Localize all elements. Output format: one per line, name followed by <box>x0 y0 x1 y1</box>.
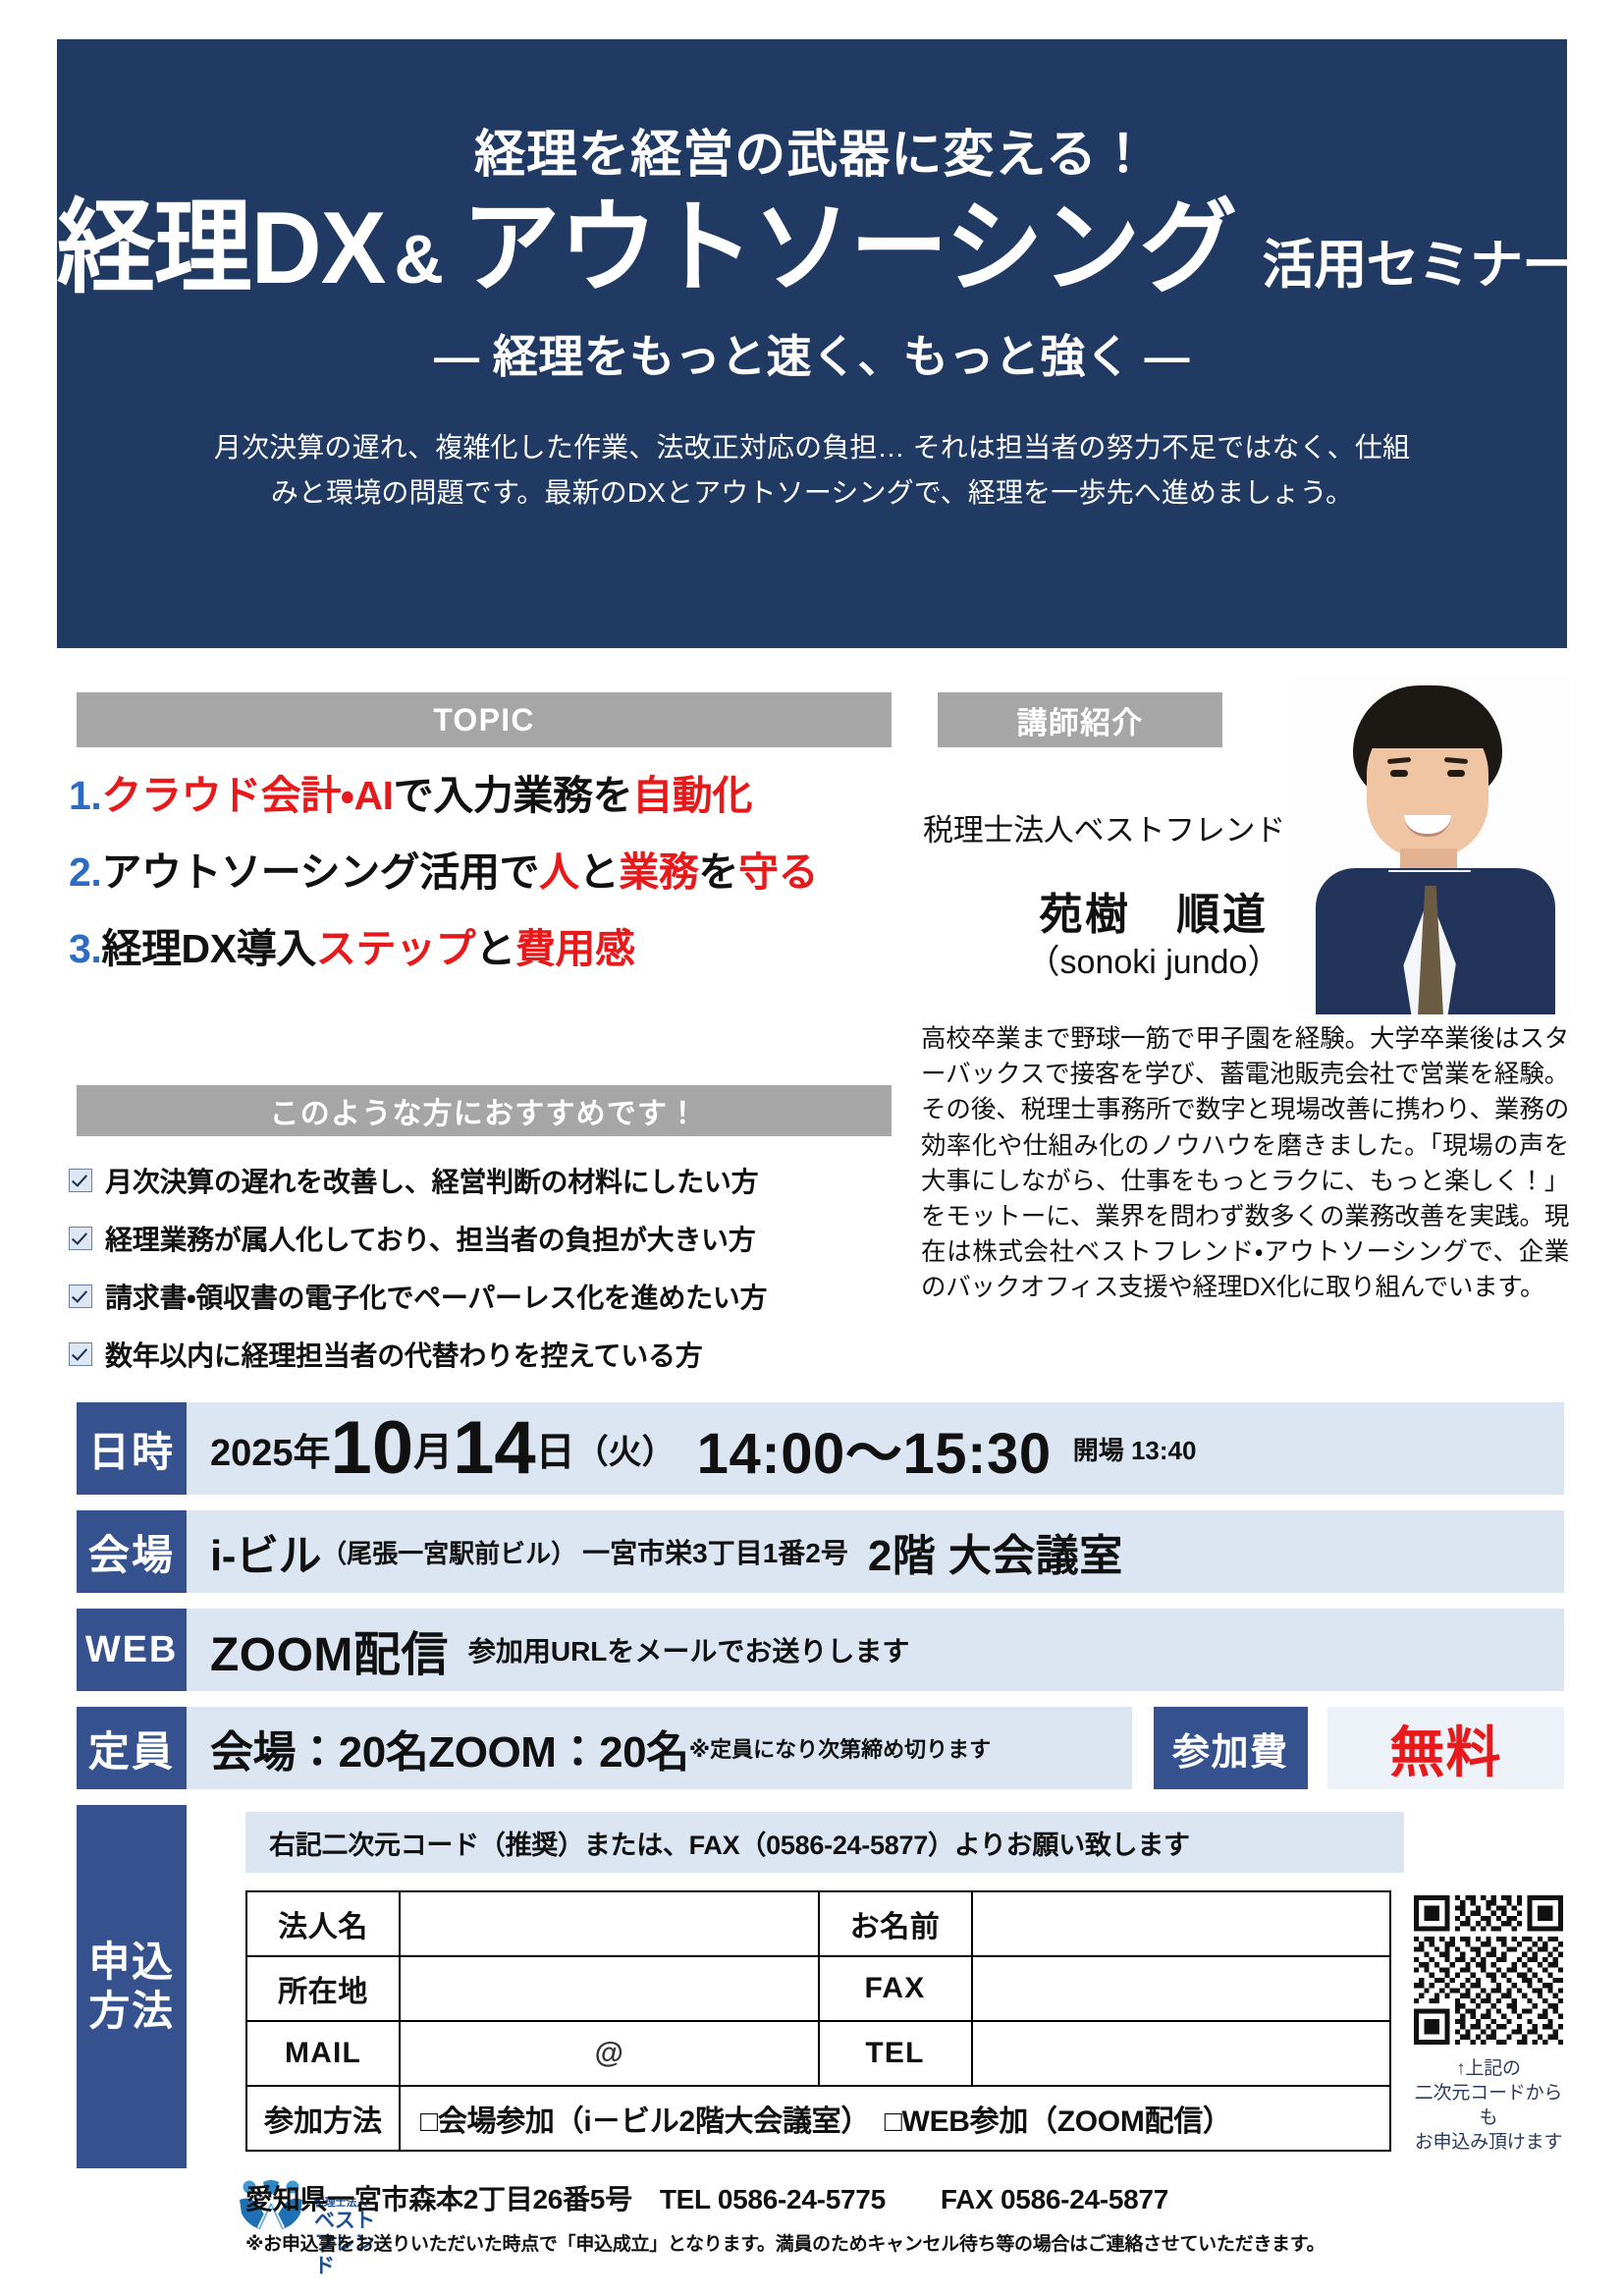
hero-title-sub: 活用セミナー <box>1262 239 1574 292</box>
venue-name: i-ビル <box>210 1520 321 1583</box>
detail-label-date: 日時 <box>77 1402 187 1495</box>
qr-caption: ↑上記の 二次元コードからも お申込み頂けます <box>1414 2056 1563 2155</box>
date-year: 2025年 <box>210 1422 331 1476</box>
topic-item-text: 費用感 <box>515 926 635 971</box>
recommend-item-label: 月次決算の遅れを改善し、経営判断の材料にしたい方 <box>105 1161 758 1200</box>
topic-item-number: 3. <box>69 926 101 971</box>
footer-contact: 愛知県一宮市森本2丁目26番5号TEL 0586-24-5775FAX 0586… <box>245 2178 1571 2217</box>
detail-value-venue: i-ビル（尾張一宮駅前ビル）一宮市栄3丁目1番2号2階 大会議室 <box>187 1510 1564 1593</box>
hero-lead: 月次決算の遅れ、複雑化した作業、法改正対応の負担… それは担当者の努力不足ではな… <box>102 425 1522 515</box>
detail-label-web: WEB <box>77 1609 187 1691</box>
form-field-label: 参加方法 <box>246 2086 400 2151</box>
topic-item-text: ステップ <box>316 926 475 971</box>
form-field-input[interactable] <box>972 1956 1391 2021</box>
topic-item-number: 1. <box>69 773 101 818</box>
hero-tagline: ― 経理をもっと速く、もっと強く ― <box>102 321 1522 386</box>
checkbox-checked-icon <box>69 1227 92 1250</box>
date-month: 10 <box>331 1411 414 1486</box>
instructor-photo <box>1294 676 1571 1014</box>
recommend-item-label: 請求書・領収書の電子化でペーパーレス化を進めたい方 <box>105 1277 767 1316</box>
hero-title: 経理DX&アウトソーシング活用セミナー <box>102 197 1522 300</box>
application-form-table: 法人名お名前所在地FAXMAIL@TEL参加方法□会場参加（i－ビル2階大会議室… <box>245 1890 1391 2152</box>
recommend-item: 経理業務が属人化しており、担当者の負担が大きい方 <box>69 1219 933 1258</box>
topic-item-text: 守る <box>738 849 818 895</box>
footer-disclaimer: ※お申込書をお送りいただいた時点で「申込成立」となります。満員のためキャンセル待… <box>245 2229 1571 2256</box>
recommend-item-label: 数年以内に経理担当者の代替わりを控えている方 <box>105 1335 702 1374</box>
hero-banner: 経理を経営の武器に変える！ 経理DX&アウトソーシング活用セミナー ― 経理をも… <box>57 39 1567 648</box>
recommend-item: 請求書・領収書の電子化でペーパーレス化を進めたい方 <box>69 1277 933 1316</box>
detail-row-venue: 会場 i-ビル（尾張一宮駅前ビル）一宮市栄3丁目1番2号2階 大会議室 <box>77 1510 1564 1593</box>
form-field-input[interactable] <box>400 1956 819 2021</box>
topic-heading: TOPIC <box>77 692 892 747</box>
recommend-heading: このような方におすすめです！ <box>77 1085 892 1136</box>
form-field-input[interactable] <box>972 2021 1391 2086</box>
topic-item-text: 人 <box>539 849 579 895</box>
date-day-unit: 日 <box>536 1420 575 1477</box>
venue-name-sub: （尾張一宮駅前ビル） <box>321 1534 576 1570</box>
capacity-main: 会場：20名ZOOM：20名 <box>210 1717 689 1779</box>
date-month-unit: 月 <box>413 1420 453 1477</box>
topic-item-2: 2.アウトソーシング活用で人と業務を守る <box>69 852 913 893</box>
topic-item-text: 自動化 <box>632 773 752 818</box>
form-field-label: MAIL <box>246 2021 400 2086</box>
apply-label-line1: 申込 <box>88 1938 174 1987</box>
form-field-label: TEL <box>819 2021 972 2086</box>
checkbox-checked-icon <box>69 1169 92 1192</box>
apply-note: 右記二次元コード（推奨）または、FAX（0586-24-5877）よりお願い致し… <box>245 1812 1404 1873</box>
topic-item-text: アウトソーシング活用で <box>101 849 539 895</box>
hero-kicker: 経理を経営の武器に変える！ <box>102 128 1522 184</box>
fee-label: 参加費 <box>1154 1707 1308 1789</box>
recommend-item-label: 経理業務が属人化しており、担当者の負担が大きい方 <box>105 1219 755 1258</box>
footer-tel: TEL 0586-24-5775 <box>660 2184 886 2214</box>
topic-item-1: 1.クラウド会計・AIで入力業務を自動化 <box>69 776 913 816</box>
detail-value-date: 2025年10月14日（火） 14:00〜15:30 開場 13:40 <box>187 1402 1564 1495</box>
hero-title-main: 経理DX <box>57 197 385 300</box>
detail-row-web: WEB ZOOM配信参加用URLをメールでお送りします <box>77 1609 1564 1691</box>
recommend-list: 月次決算の遅れを改善し、経営判断の材料にしたい方経理業務が属人化しており、担当者… <box>69 1161 933 1393</box>
topic-item-text: を <box>698 849 738 895</box>
form-row: MAIL@TEL <box>246 2021 1390 2086</box>
footer-address: 愛知県一宮市森本2丁目26番5号 <box>245 2184 632 2214</box>
checkbox-checked-icon <box>69 1285 92 1308</box>
form-row: 所在地FAX <box>246 1956 1390 2021</box>
detail-label-venue: 会場 <box>77 1510 187 1593</box>
hero-title-main2: アウトソーシング <box>461 197 1236 300</box>
detail-value-web: ZOOM配信参加用URLをメールでお送りします <box>187 1609 1564 1691</box>
topic-item-text: 経理DX導入 <box>101 926 316 971</box>
recommend-item: 数年以内に経理担当者の代替わりを控えている方 <box>69 1335 933 1374</box>
qr-caption-line1: ↑上記の <box>1414 2056 1563 2081</box>
form-field-input[interactable]: @ <box>400 2021 819 2086</box>
topic-item-number: 2. <box>69 849 101 895</box>
hero-lead-line1: 月次決算の遅れ、複雑化した作業、法改正対応の負担… それは担当者の努力不足ではな… <box>120 425 1504 469</box>
qr-code-icon[interactable] <box>1414 1895 1563 2045</box>
detail-row-date: 日時 2025年10月14日（火） 14:00〜15:30 開場 13:40 <box>77 1402 1564 1495</box>
web-sub: 参加用URLをメールでお送りします <box>468 1630 910 1669</box>
form-join-options[interactable]: □会場参加（i－ビル2階大会議室） □WEB参加（ZOOM配信） <box>400 2086 1390 2151</box>
date-open: 開場 13:40 <box>1073 1431 1197 1467</box>
topic-item-3: 3.経理DX導入ステップと費用感 <box>69 929 913 969</box>
topic-item-text: と <box>579 849 620 895</box>
apply-label-line2: 方法 <box>88 1987 174 2036</box>
fee-value: 無料 <box>1327 1707 1564 1789</box>
form-field-label: お名前 <box>819 1891 972 1956</box>
qr-block: ↑上記の 二次元コードからも お申込み頂けます <box>1414 1895 1563 2155</box>
web-main: ZOOM配信 <box>210 1615 449 1684</box>
form-field-input[interactable] <box>400 1891 819 1956</box>
form-field-input[interactable] <box>972 1891 1391 1956</box>
hero-title-amp: & <box>392 225 446 294</box>
topic-item-text: と <box>475 926 515 971</box>
form-field-label: 所在地 <box>246 1956 400 2021</box>
form-row: 法人名お名前 <box>246 1891 1390 1956</box>
instructor-bio: 高校卒業まで野球一筋で甲子園を経験。大学卒業後はスターバックスで接客を学び、蓄電… <box>921 1021 1569 1306</box>
apply-label: 申込 方法 <box>77 1805 187 2168</box>
date-time: 14:00〜15:30 <box>697 1407 1052 1490</box>
venue-address: 一宮市栄3丁目1番2号 <box>582 1532 848 1571</box>
form-field-label: 法人名 <box>246 1891 400 1956</box>
qr-caption-line3: お申込み頂けます <box>1414 2130 1563 2155</box>
footer-fax: FAX 0586-24-5877 <box>941 2184 1168 2214</box>
topic-list: 1.クラウド会計・AIで入力業務を自動化2.アウトソーシング活用で人と業務を守る… <box>69 776 913 1006</box>
detail-value-capacity: 会場：20名ZOOM：20名※定員になり次第締め切ります <box>187 1707 1132 1789</box>
date-day: 14 <box>453 1411 536 1486</box>
capacity-note: ※定員になり次第締め切ります <box>689 1732 991 1764</box>
date-dow: （火） <box>575 1425 676 1473</box>
checkbox-checked-icon <box>69 1342 92 1366</box>
instructor-heading: 講師紹介 <box>938 692 1222 747</box>
footer-block: 愛知県一宮市森本2丁目26番5号TEL 0586-24-5775FAX 0586… <box>245 2178 1571 2256</box>
topic-item-text: クラウド会計・AI <box>101 773 393 818</box>
recommend-item: 月次決算の遅れを改善し、経営判断の材料にしたい方 <box>69 1161 933 1200</box>
form-field-label: FAX <box>819 1956 972 2021</box>
form-row-join-method: 参加方法□会場参加（i－ビル2階大会議室） □WEB参加（ZOOM配信） <box>246 2086 1390 2151</box>
flyer-page: 経理を経営の武器に変える！ 経理DX&アウトソーシング活用セミナー ― 経理をも… <box>0 0 1623 2296</box>
detail-label-capacity: 定員 <box>77 1707 187 1789</box>
topic-item-text: 業務 <box>619 849 698 895</box>
detail-row-capacity: 定員 会場：20名ZOOM：20名※定員になり次第締め切ります 参加費 無料 <box>77 1707 1564 1789</box>
qr-caption-line2: 二次元コードからも <box>1414 2081 1563 2130</box>
hero-lead-line2: みと環境の問題です。最新のDXとアウトソーシングで、経理を一歩先へ進めましょう。 <box>120 470 1504 515</box>
topic-item-text: で入力業務を <box>394 773 633 818</box>
venue-floor: 2階 大会議室 <box>868 1520 1123 1583</box>
